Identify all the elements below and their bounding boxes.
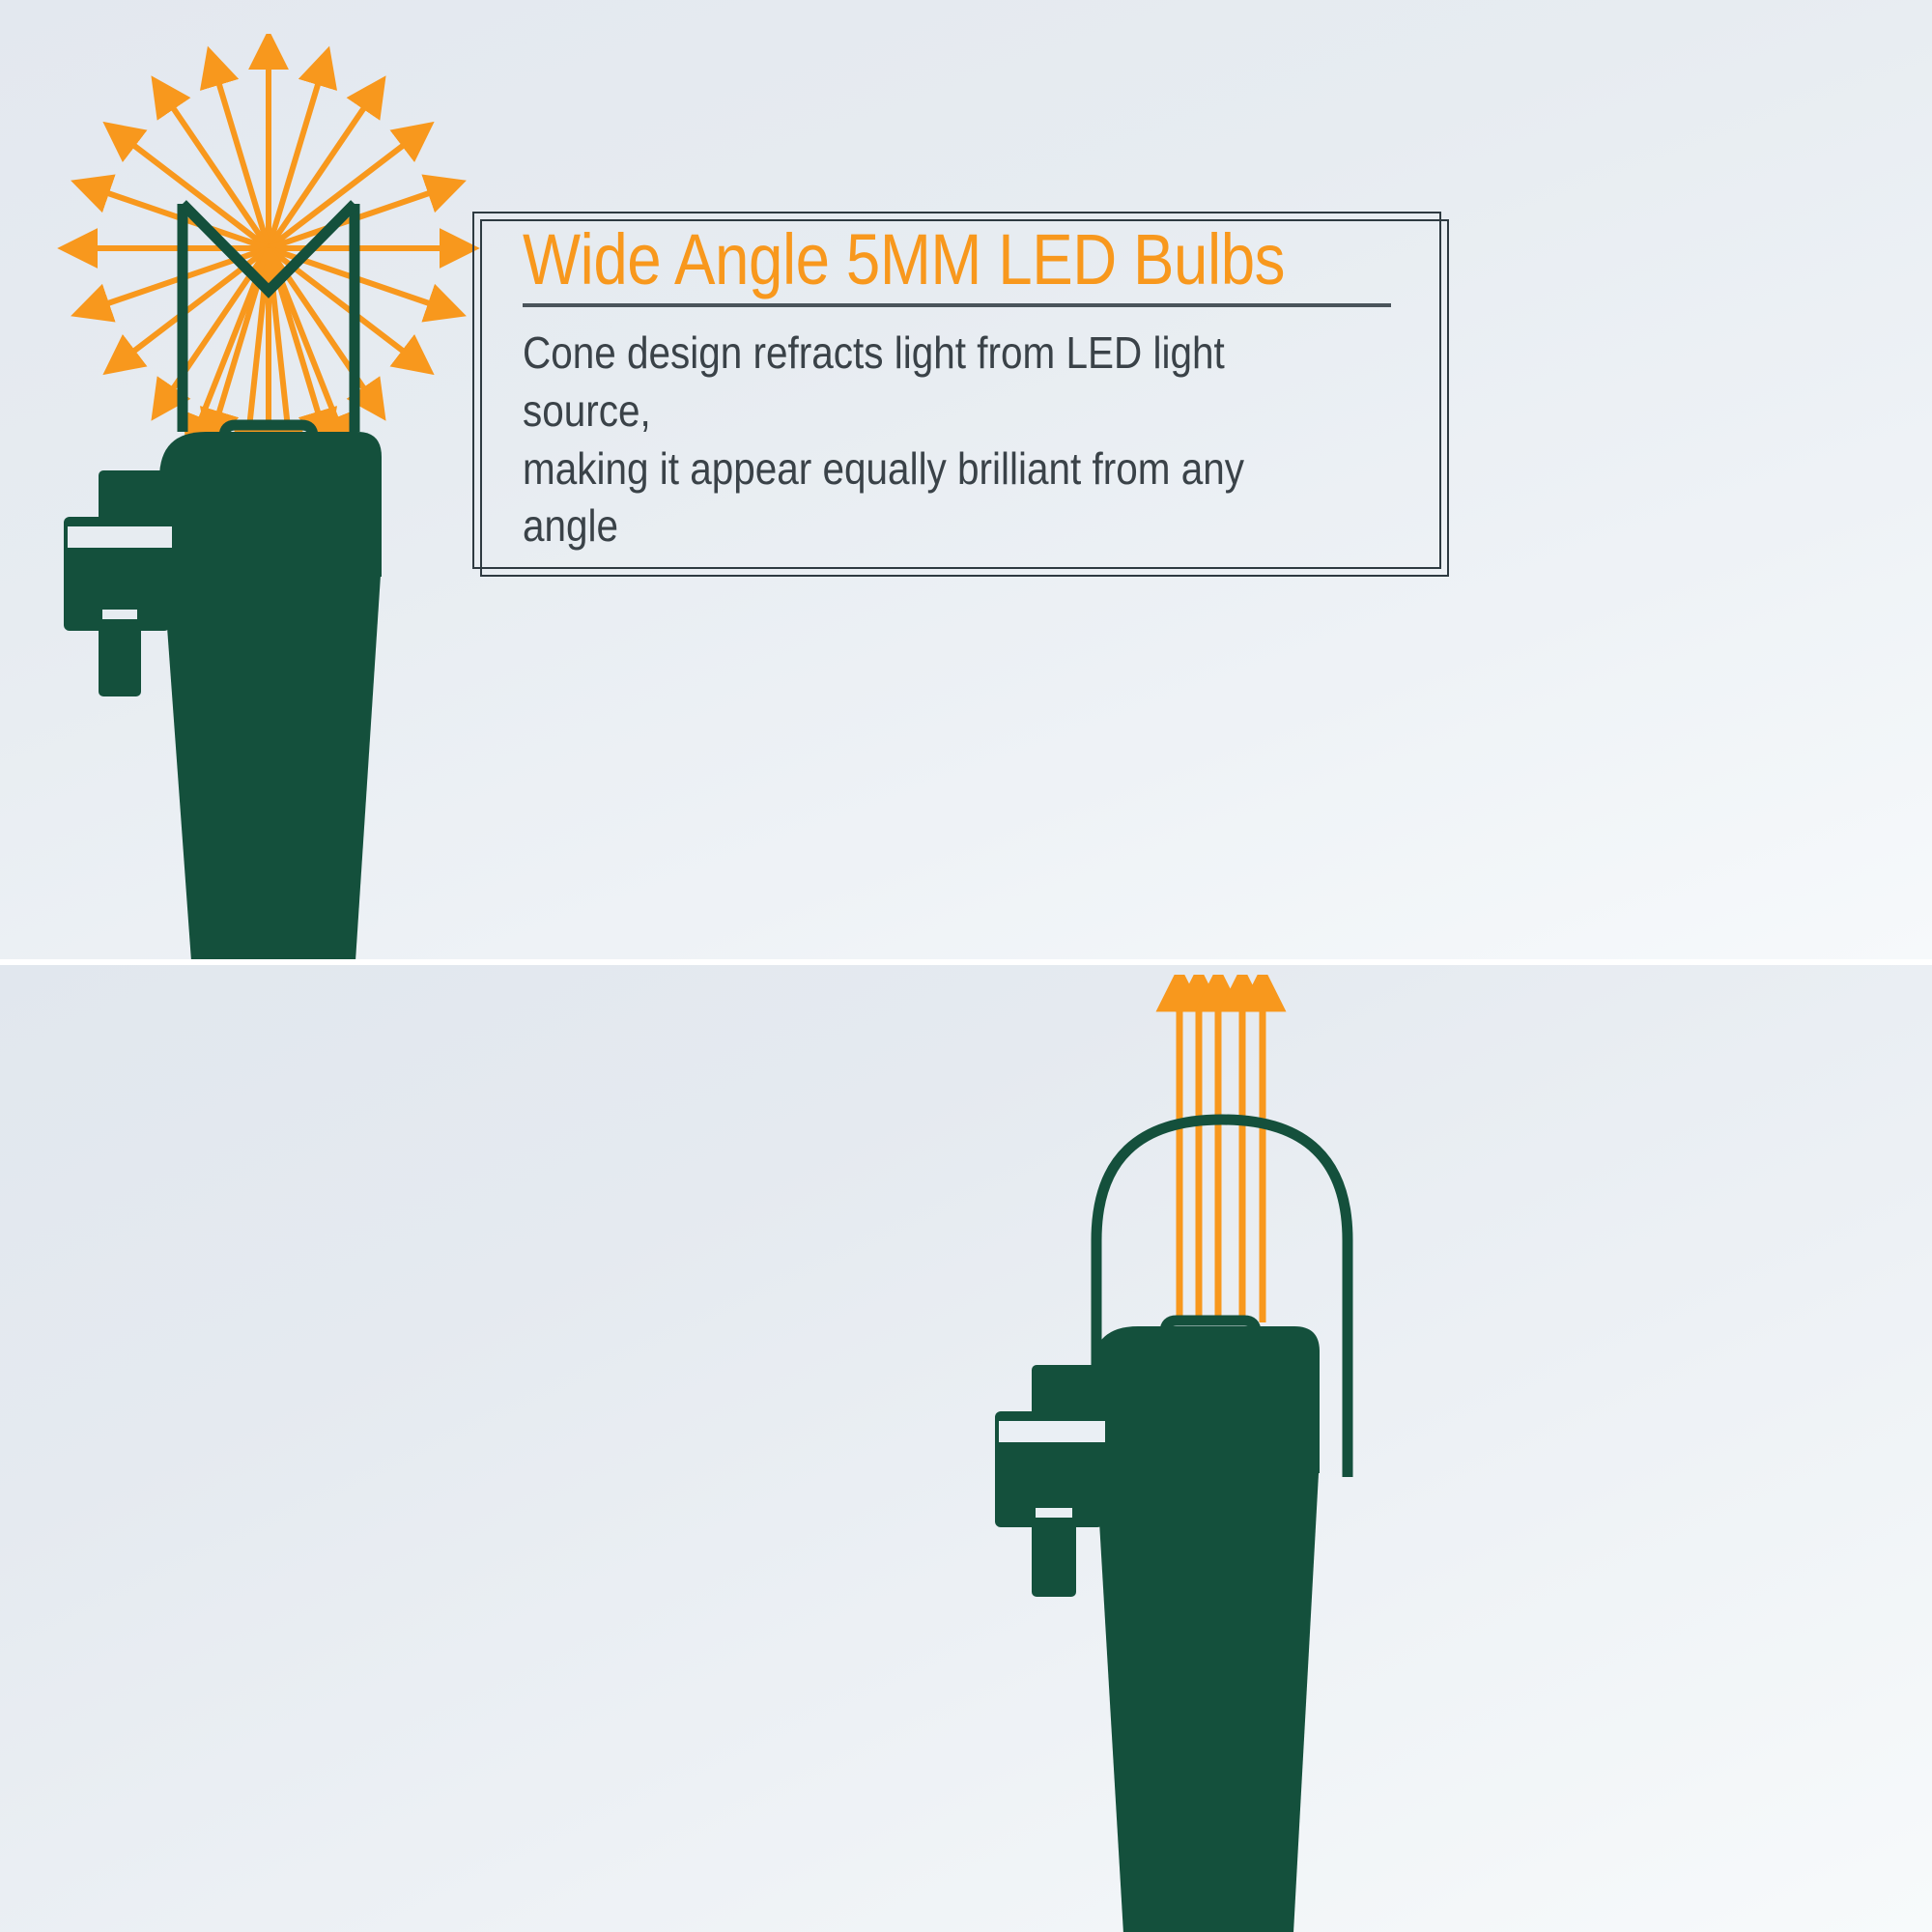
panel-standard: Standard LED Bulbs Standard LED appear b… [0, 965, 1932, 1932]
wide-angle-description: Cone design refracts light from LED ligh… [523, 325, 1331, 555]
infographic-stage: Wide Angle 5MM LED Bulbs Cone design ref… [0, 0, 1932, 1932]
standard-led-bulb-graphic [995, 975, 1449, 1932]
bulb-socket-base [995, 1326, 1320, 1932]
title-divider-rule [523, 303, 1391, 307]
wide-angle-text-card: Wide Angle 5MM LED Bulbs Cone design ref… [472, 212, 1441, 569]
light-ray-group [1179, 1004, 1263, 1322]
panel-wide-angle: Wide Angle 5MM LED Bulbs Cone design ref… [0, 0, 1932, 959]
wide-angle-title: Wide Angle 5MM LED Bulbs [523, 225, 1313, 294]
bulb-socket-base [64, 432, 382, 959]
wide-angle-led-bulb-graphic [48, 34, 493, 959]
light-ray-group [91, 63, 446, 430]
